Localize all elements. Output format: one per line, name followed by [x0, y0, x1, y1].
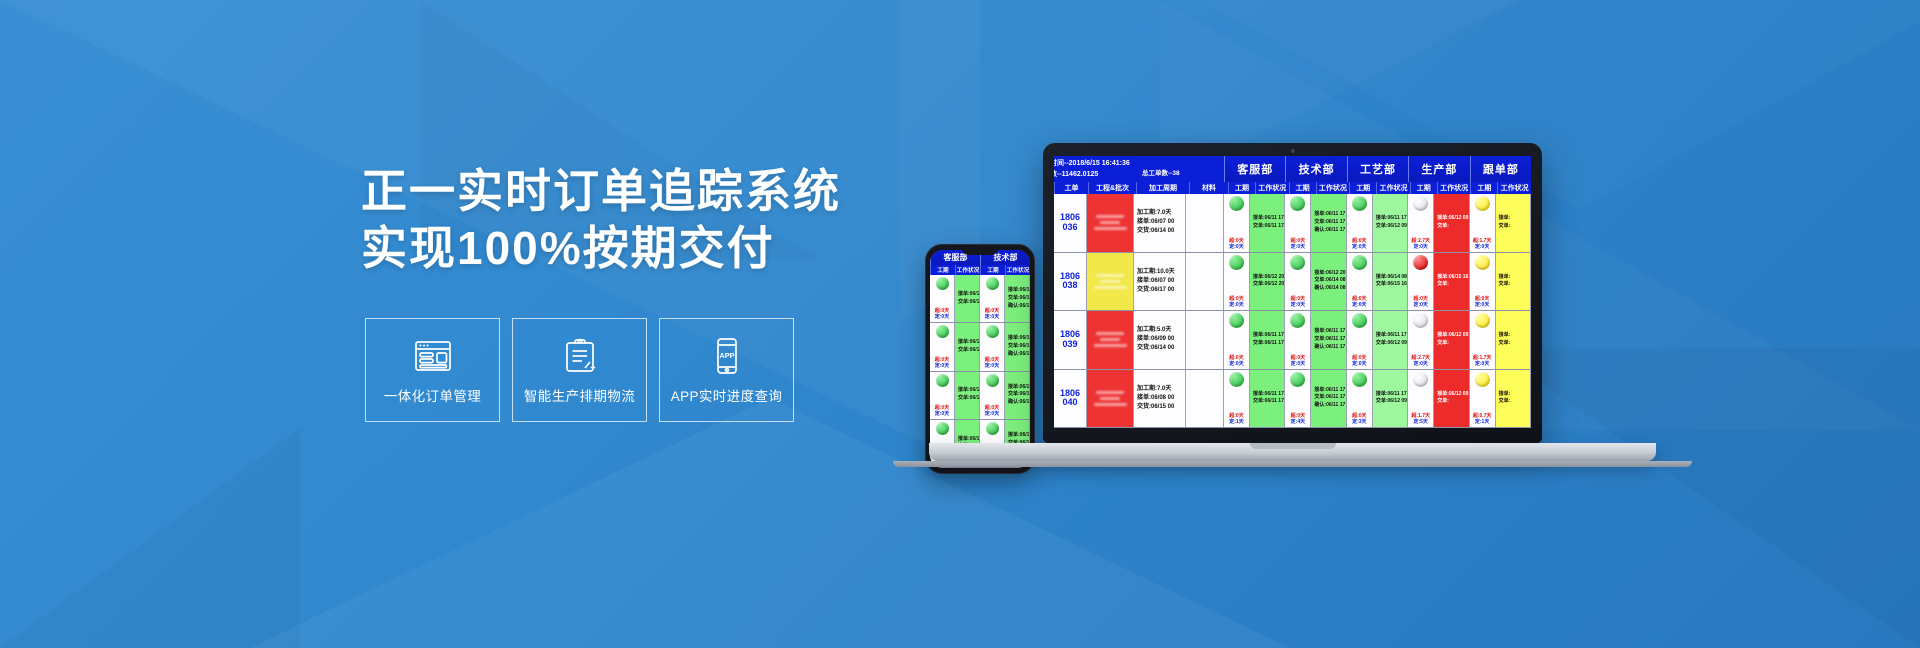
- redacted-text: [1096, 332, 1124, 335]
- status-line: 确认:06/11 17: [1314, 344, 1345, 352]
- feature-card-app-progress-query[interactable]: APP APP实时进度查询: [659, 318, 794, 422]
- col-status-tech: 工作状况: [1316, 182, 1350, 194]
- overdue-tag: 超:0天: [934, 406, 950, 411]
- fixed-tag: 定:0天: [934, 412, 950, 417]
- status-indicator-g: [1290, 255, 1305, 270]
- status-line: 交单:: [1437, 398, 1468, 406]
- status-indicator-w: [1413, 196, 1428, 211]
- fixed-tag: 定:0天: [984, 412, 1000, 417]
- redacted-text: [1100, 221, 1120, 224]
- fixed-tag: 定:0天: [984, 364, 1000, 369]
- status-line: 接单:06/11 17: [1376, 332, 1407, 340]
- status-line: 交单:06/11 17: [1314, 219, 1345, 227]
- cell-material: [1186, 311, 1224, 369]
- redacted-text: [1100, 397, 1120, 400]
- status-line: 接单:06/11 17: [1376, 215, 1407, 223]
- laptop-mockup: 时间--2018/6/15 16:41:36 数--11462.0125 总工单…: [1043, 143, 1542, 443]
- status-line: 交单:06/11 17: [1253, 340, 1284, 348]
- fixed-tag: 定:1天: [1474, 420, 1490, 425]
- status-indicator-y: [1475, 196, 1490, 211]
- phone-cell-work-status: 接单:06/11 17交单:06/11 17: [955, 372, 980, 419]
- status-line: 交单:06/12 09: [1376, 223, 1407, 231]
- feature-label: 智能生产排期物流: [524, 385, 635, 405]
- status-line: 接单:06/12 09: [1437, 332, 1468, 340]
- status-line: 交单:06/11 17: [1008, 295, 1029, 303]
- duration-tags: 超:1.7天定:0天: [1470, 356, 1495, 367]
- headline-line-1: 正一实时订单追踪系统: [361, 165, 841, 217]
- cell-duration: 超:2.7天定:0天: [1408, 311, 1434, 369]
- cell-work-status: 接单:06/12 20交单:06/12 20: [1250, 253, 1285, 311]
- duration-tags: 超:0天定:0天: [1224, 297, 1249, 308]
- cell-work-status: 接单:06/12 09交单:: [1434, 370, 1469, 428]
- redacted-text: [1094, 227, 1127, 230]
- feature-card-order-management[interactable]: 一体化订单管理: [365, 318, 500, 422]
- fixed-tag: 定:0天: [1474, 303, 1490, 308]
- svg-text:APP: APP: [719, 351, 734, 360]
- cell-work-order: 1806036: [1054, 194, 1087, 252]
- overdue-tag: 超:1.7天: [1472, 356, 1493, 361]
- cell-duration: 超:1.7天定:0天: [1470, 194, 1496, 252]
- duration-tags: 超:0天定:0天: [1470, 297, 1495, 308]
- cell-duration: 超:0天定:0天: [1347, 194, 1373, 252]
- phone-mockup: 客服部 技术部 工期 工作状况 工期 工作状况 超:0天定:0天接单:06/11…: [925, 244, 1035, 474]
- fixed-tag: 定:0天: [934, 364, 950, 369]
- cycle-line: 加工期:5.0天: [1137, 326, 1185, 335]
- fixed-tag: 定:0天: [1351, 245, 1367, 250]
- status-line: 接单:06/11 17: [1314, 211, 1345, 219]
- cycle-line: 接单:06/07 00: [1137, 277, 1185, 286]
- cell-work-status: 接单:06/11 17交单:06/11 17确认:06/11 17: [1311, 311, 1346, 369]
- col-status-cs: 工作状况: [1255, 182, 1289, 194]
- fixed-tag: 定:1天: [1228, 420, 1244, 425]
- status-indicator-g: [1352, 196, 1367, 211]
- cycle-line: 交货:06/14 00: [1137, 227, 1185, 236]
- dept-header-customer-service: 客服部: [1224, 156, 1285, 182]
- status-line: 接单:06/12 09: [1437, 215, 1468, 223]
- col-status-flw: 工作状况: [1497, 182, 1531, 194]
- status-line: 接单:06/11 17: [1008, 287, 1029, 295]
- background-facet: [0, 428, 300, 648]
- cell-duration: 超:2.7天定:0天: [1408, 194, 1434, 252]
- status-line: 交单:06/12 09: [1376, 340, 1407, 348]
- fixed-tag: 定:4天: [1290, 420, 1306, 425]
- cell-work-order: 1806038: [1054, 253, 1087, 311]
- status-line: 接单:06/11 17: [1314, 328, 1345, 336]
- cycle-line: 交货:06/15 00: [1137, 403, 1185, 412]
- status-line: 接单:06/11 17: [1253, 215, 1284, 223]
- clipboard-icon: [558, 336, 602, 376]
- status-indicator-g: [1229, 196, 1244, 211]
- dashboard-meta: 时间--2018/6/15 16:41:36 数--11462.0125 总工单…: [1054, 156, 1224, 182]
- status-line: 交单:06/12 20: [1253, 281, 1284, 289]
- cell-work-status: 接单:06/11 17交单:06/12 09: [1373, 194, 1408, 252]
- duration-tags: 超:0天定:3天: [1347, 414, 1372, 425]
- status-indicator-g: [986, 277, 999, 290]
- overdue-tag: 超:0天: [1228, 239, 1244, 244]
- table-row[interactable]: 1806040加工期:7.0天接单:06/08 00交货:06/15 00超:0…: [1054, 370, 1531, 429]
- status-indicator-w: [1413, 372, 1428, 387]
- feature-list: 一体化订单管理 智能生产排期物流: [365, 318, 794, 422]
- cell-duration: 超:0天定:0天: [1470, 253, 1496, 311]
- col-duration-tech: 工期: [1289, 182, 1316, 194]
- duration-tags: 超:0天定:0天: [1347, 297, 1372, 308]
- laptop-lid: 时间--2018/6/15 16:41:36 数--11462.0125 总工单…: [1043, 143, 1542, 443]
- cell-process-cycle: 加工期:10.0天接单:06/07 00交货:06/17 00: [1134, 253, 1186, 311]
- cell-material: [1186, 253, 1224, 311]
- feature-card-production-scheduling[interactable]: 智能生产排期物流: [512, 318, 647, 422]
- cell-project-batch: [1087, 253, 1134, 311]
- redacted-text: [1096, 391, 1124, 394]
- fixed-tag: 定:0天: [934, 315, 950, 320]
- dept-header-order-follow: 跟单部: [1470, 156, 1531, 182]
- cell-work-status: 接单:交单:: [1496, 311, 1531, 369]
- work-order-suffix: 036: [1062, 223, 1077, 233]
- cell-work-status: 接单:06/11 17交单:06/12 09: [1373, 370, 1408, 428]
- fixed-tag: 定:0天: [1351, 362, 1367, 367]
- cell-duration: 超:0天定:0天: [1224, 194, 1250, 252]
- col-duration-prod: 工期: [1410, 182, 1437, 194]
- fixed-tag: 定:5天: [1412, 420, 1428, 425]
- cell-duration: 超:0天定:0天: [1347, 311, 1373, 369]
- meta-total-orders: 总工单数--38: [1142, 167, 1180, 177]
- hero-copy: 正一实时订单追踪系统 实现100%按期交付: [361, 163, 881, 277]
- fixed-tag: 定:0天: [1290, 362, 1306, 367]
- fixed-tag: 定:0天: [1228, 245, 1244, 250]
- status-indicator-g: [936, 325, 949, 338]
- overdue-tag: 超:0天: [1351, 356, 1367, 361]
- status-line: 交单:06/11 17: [1253, 398, 1284, 406]
- status-line: 交单:06/14 08: [1314, 277, 1345, 285]
- status-indicator-g: [936, 422, 949, 435]
- status-line: 接单:06/11 17: [1008, 432, 1029, 440]
- meta-number: 数--11462.0125: [1054, 169, 1224, 179]
- phone-cell-duration: 超:0天定:0天: [980, 323, 1005, 370]
- status-indicator-w: [1413, 313, 1428, 328]
- duration-tags: 超:0.7天定:1天: [1470, 414, 1495, 425]
- cell-work-status: 接单:交单:: [1496, 370, 1531, 428]
- phone-cell-duration: 超:0天定:0天: [930, 275, 955, 322]
- phone-notch: [962, 247, 998, 255]
- duration-tags: 超:2.7天定:0天: [1408, 356, 1433, 367]
- col-work-order: 工单: [1054, 182, 1088, 194]
- col-material: 材料: [1189, 182, 1228, 194]
- meta-time: 时间--2018/6/15 16:41:36: [1054, 158, 1224, 168]
- table-row[interactable]: 1806038加工期:10.0天接单:06/07 00交货:06/17 00超:…: [1054, 253, 1531, 312]
- fixed-tag: 定:0天: [1412, 362, 1428, 367]
- cell-work-status: 接单:06/12 09交单:: [1434, 311, 1469, 369]
- phone-cell-work-status: 接单:06/12 20交单:06/14 08确认:06/14 08: [1005, 323, 1030, 370]
- status-line: 交单:06/15 16: [1376, 281, 1407, 289]
- background-facet: [1490, 348, 1920, 648]
- cell-duration: 超:0天定:0天: [1347, 253, 1373, 311]
- cell-duration: 超:0天定:0天: [1285, 194, 1311, 252]
- status-line: 确认:06/11 17: [1314, 402, 1345, 410]
- cell-duration: 超:0天定:0天: [1408, 253, 1434, 311]
- phone-col-status: 工作状况: [955, 265, 980, 275]
- status-line: 接单:06/11 17: [958, 387, 979, 395]
- status-line: 交单:06/11 17: [1314, 336, 1345, 344]
- phone-cell-work-status: 接单:06/11 17交单:06/11 17确认:06/11 17: [1005, 372, 1030, 419]
- duration-tags: 超:0天定:0天: [1347, 356, 1372, 367]
- col-duration-proc: 工期: [1349, 182, 1376, 194]
- status-indicator-g: [1352, 313, 1367, 328]
- status-line: 交单:: [1437, 281, 1468, 289]
- cell-material: [1186, 370, 1224, 428]
- dept-header-technical: 技术部: [1285, 156, 1346, 182]
- col-status-proc: 工作状况: [1376, 182, 1410, 194]
- dept-header-process: 工艺部: [1347, 156, 1408, 182]
- fixed-tag: 定:0天: [1474, 245, 1490, 250]
- cycle-line: 加工期:10.0天: [1137, 268, 1185, 277]
- redacted-text: [1096, 274, 1124, 277]
- status-indicator-y: [1475, 313, 1490, 328]
- cycle-line: 加工期:7.0天: [1137, 385, 1185, 394]
- headline-line-2: 实现100%按期交付: [361, 220, 881, 277]
- status-line: 交单:06/11 17: [1008, 391, 1029, 399]
- laptop-screen[interactable]: 时间--2018/6/15 16:41:36 数--11462.0125 总工单…: [1054, 156, 1531, 428]
- status-line: 接单:: [1499, 215, 1530, 223]
- cell-work-status: 接单:06/15 16交单:: [1434, 253, 1469, 311]
- cell-process-cycle: 加工期:5.0天接单:06/09 00交货:06/14 00: [1134, 311, 1186, 369]
- duration-tags: 超:0天定:0天: [1285, 239, 1310, 250]
- duration-tags: 超:0天定:0天: [1224, 239, 1249, 250]
- cell-work-status: 接单:06/11 17交单:06/11 17: [1250, 370, 1285, 428]
- overdue-tag: 超:0天: [934, 358, 950, 363]
- cycle-line: 交货:06/17 00: [1137, 286, 1185, 295]
- laptop-foot: [893, 461, 1692, 467]
- cell-duration: 超:0.7天定:1天: [1470, 370, 1496, 428]
- phone-cell-duration: 超:0天定:0天: [980, 275, 1005, 322]
- dashboard-icon: [411, 336, 455, 376]
- status-indicator-g: [1352, 255, 1367, 270]
- cell-work-status: 接单:06/12 20交单:06/14 08确认:06/14 08: [1311, 253, 1346, 311]
- redacted-text: [1100, 338, 1120, 341]
- col-duration-cs: 工期: [1228, 182, 1255, 194]
- status-indicator-g: [986, 374, 999, 387]
- fixed-tag: 定:0天: [1474, 362, 1490, 367]
- cell-work-status: 接单:06/11 17交单:06/11 17: [1250, 311, 1285, 369]
- status-indicator-g: [1229, 372, 1244, 387]
- cell-duration: 超:0天定:0天: [1285, 311, 1311, 369]
- cell-work-status: 接单:06/14 08交单:06/15 16: [1373, 253, 1408, 311]
- status-line: 交单:06/12 09: [1376, 398, 1407, 406]
- status-line: 交单:06/11 17: [958, 395, 979, 403]
- status-line: 交单:: [1499, 281, 1530, 289]
- status-line: 交单:06/11 17: [1314, 394, 1345, 402]
- phone-table-row[interactable]: 超:0天定:0天接单:06/12 20交单:06/12 20超:0天定:0天接单…: [930, 323, 1030, 371]
- status-line: 确认:06/14 08: [1314, 285, 1345, 293]
- status-line: 接单:06/11 17: [958, 291, 979, 299]
- phone-screen[interactable]: 客服部 技术部 工期 工作状况 工期 工作状况 超:0天定:0天接单:06/11…: [930, 250, 1030, 468]
- status-line: 交单:: [1499, 398, 1530, 406]
- work-order-suffix: 038: [1062, 281, 1077, 291]
- status-line: 接单:06/12 20: [1008, 335, 1029, 343]
- table-row[interactable]: 1806036加工期:7.0天接单:06/07 00交货:06/14 00超:0…: [1054, 194, 1531, 253]
- page-title: 正一实时订单追踪系统 实现100%按期交付: [361, 163, 881, 277]
- status-indicator-y: [1475, 255, 1490, 270]
- fixed-tag: 定:0天: [984, 315, 1000, 320]
- duration-tags: 超:0天定:0天: [1285, 297, 1310, 308]
- status-line: 接单:06/12 20: [958, 339, 979, 347]
- status-line: 确认:06/11 17: [1008, 399, 1029, 407]
- status-line: 交单:: [1437, 340, 1468, 348]
- phone-table-row[interactable]: 超:0天定:0天接单:06/11 17交单:06/11 17超:0天定:0天接单…: [930, 275, 1030, 323]
- phone-column-header: 工期 工作状况 工期 工作状况: [930, 265, 1030, 275]
- redacted-text: [1094, 344, 1127, 347]
- cycle-line: 加工期:7.0天: [1137, 209, 1185, 218]
- status-indicator-g: [1229, 313, 1244, 328]
- phone-cell-duration: 超:0天定:0天: [930, 372, 955, 419]
- status-line: 确认:06/14 08: [1008, 351, 1029, 359]
- duration-tags: 超:0天定:0天: [980, 406, 1004, 417]
- cell-work-order: 1806039: [1054, 311, 1087, 369]
- duration-tags: 超:0天定:4天: [1285, 414, 1310, 425]
- duration-tags: 超:0天定:0天: [930, 358, 954, 369]
- dashboard-header: 时间--2018/6/15 16:41:36 数--11462.0125 总工单…: [1054, 156, 1531, 182]
- status-indicator-g: [1290, 196, 1305, 211]
- col-project-batch: 工程&批次: [1088, 182, 1136, 194]
- duration-tags: 超:1.7天定:5天: [1408, 414, 1433, 425]
- status-line: 交单:06/12 20: [958, 347, 979, 355]
- mobile-app-icon: APP: [705, 336, 749, 376]
- status-line: 交单:06/11 17: [958, 299, 979, 307]
- status-indicator-g: [986, 422, 999, 435]
- overdue-tag: 超:0天: [1290, 239, 1306, 244]
- cell-work-status: 接单:06/11 17交单:06/11 17: [1250, 194, 1285, 252]
- cell-duration: 超:1.7天定:5天: [1408, 370, 1434, 428]
- duration-tags: 超:1.7天定:0天: [1470, 239, 1495, 250]
- overdue-tag: 超:0天: [1290, 356, 1306, 361]
- cell-duration: 超:0天定:1天: [1224, 370, 1250, 428]
- phone-table-row[interactable]: 超:0天定:0天接单:06/11 17交单:06/11 17超:0天定:0天接单…: [930, 372, 1030, 420]
- status-indicator-r: [1413, 255, 1428, 270]
- cell-work-status: 接单:06/12 09交单:: [1434, 194, 1469, 252]
- cycle-line: 交货:06/14 00: [1137, 344, 1185, 353]
- overdue-tag: 超:0天: [984, 358, 1000, 363]
- overdue-tag: 超:0天: [984, 406, 1000, 411]
- phone-row-list: 超:0天定:0天接单:06/11 17交单:06/11 17超:0天定:0天接单…: [930, 275, 1030, 468]
- duration-tags: 超:2.7天定:0天: [1408, 239, 1433, 250]
- duration-tags: 超:0天定:0天: [1347, 239, 1372, 250]
- cell-work-status: 接单:06/11 17交单:06/11 17确认:06/11 17: [1311, 194, 1346, 252]
- cycle-line: 接单:06/07 00: [1137, 218, 1185, 227]
- laptop-base: [929, 443, 1656, 461]
- cell-work-order: 1806040: [1054, 370, 1087, 428]
- phone-cell-work-status: 接单:06/11 17交单:06/11 17: [955, 275, 980, 322]
- duration-tags: 超:0天定:0天: [980, 309, 1004, 320]
- order-row-list: 1806036加工期:7.0天接单:06/07 00交货:06/14 00超:0…: [1054, 194, 1531, 428]
- overdue-tag: 超:2.7天: [1410, 356, 1431, 361]
- webcam-icon: [1291, 149, 1295, 153]
- table-row[interactable]: 1806039加工期:5.0天接单:06/09 00交货:06/14 00超:0…: [1054, 311, 1531, 370]
- redacted-text: [1094, 403, 1127, 406]
- duration-tags: 超:0天定:0天: [980, 358, 1004, 369]
- duration-tags: 超:0天定:0天: [1285, 356, 1310, 367]
- overdue-tag: 超:0天: [1228, 356, 1244, 361]
- status-line: 接单:: [1499, 332, 1530, 340]
- cell-project-batch: [1087, 311, 1134, 369]
- status-indicator-g: [1229, 255, 1244, 270]
- work-order-suffix: 040: [1062, 398, 1077, 408]
- fixed-tag: 定:0天: [1351, 303, 1367, 308]
- fixed-tag: 定:0天: [1412, 245, 1428, 250]
- status-indicator-g: [1290, 313, 1305, 328]
- col-process-cycle: 加工周期: [1136, 182, 1189, 194]
- duration-tags: 超:0天定:0天: [930, 406, 954, 417]
- status-line: 确认:06/11 17: [1314, 227, 1345, 235]
- phone-col-duration: 工期: [980, 265, 1005, 275]
- redacted-text: [1100, 280, 1120, 283]
- cycle-line: 接单:06/08 00: [1137, 394, 1185, 403]
- fixed-tag: 定:3天: [1351, 420, 1367, 425]
- cell-duration: 超:0天定:0天: [1224, 253, 1250, 311]
- status-line: 交单:: [1437, 223, 1468, 231]
- overdue-tag: 超:2.7天: [1410, 239, 1431, 244]
- cell-material: [1186, 194, 1224, 252]
- cycle-line: 接单:06/09 00: [1137, 335, 1185, 344]
- status-line: 接单:06/11 17: [1253, 332, 1284, 340]
- feature-label: 一体化订单管理: [384, 385, 481, 405]
- column-header-row: 工单 工程&批次 加工周期 材料 工期 工作状况 工期 工作状况 工期 工作状况…: [1054, 182, 1531, 194]
- redacted-text: [1094, 286, 1127, 289]
- duration-tags: 超:0天定:1天: [1224, 414, 1249, 425]
- feature-label: APP实时进度查询: [671, 385, 783, 405]
- status-indicator-y: [1475, 372, 1490, 387]
- cell-duration: 超:0天定:4天: [1285, 370, 1311, 428]
- status-indicator-g: [936, 374, 949, 387]
- overdue-tag: 超:0天: [1351, 239, 1367, 244]
- cell-duration: 超:0天定:3天: [1347, 370, 1373, 428]
- status-indicator-g: [936, 277, 949, 290]
- overdue-tag: 超:1.7天: [1472, 239, 1493, 244]
- order-tracking-dashboard: 时间--2018/6/15 16:41:36 数--11462.0125 总工单…: [1054, 156, 1531, 428]
- fixed-tag: 定:0天: [1228, 362, 1244, 367]
- status-line: 交单:06/11 17: [1253, 223, 1284, 231]
- status-line: 交单:06/14 08: [1008, 343, 1029, 351]
- status-line: 确认:06/11 17: [1008, 303, 1029, 311]
- status-indicator-g: [1352, 372, 1367, 387]
- fixed-tag: 定:0天: [1228, 303, 1244, 308]
- cell-work-status: 接单:06/11 17交单:06/11 17确认:06/11 17: [1311, 370, 1346, 428]
- phone-cell-work-status: 接单:06/11 17交单:06/11 17确认:06/11 17: [1005, 275, 1030, 322]
- cell-work-status: 接单:交单:: [1496, 253, 1531, 311]
- phone-cell-duration: 超:0天定:0天: [980, 372, 1005, 419]
- status-indicator-g: [986, 325, 999, 338]
- status-line: 交单:: [1499, 223, 1530, 231]
- phone-col-status: 工作状况: [1005, 265, 1030, 275]
- status-indicator-g: [1290, 372, 1305, 387]
- work-order-suffix: 039: [1062, 340, 1077, 350]
- cell-project-batch: [1087, 194, 1134, 252]
- status-line: 交单:: [1499, 340, 1530, 348]
- fixed-tag: 定:0天: [1412, 303, 1428, 308]
- duration-tags: 超:0天定:0天: [930, 309, 954, 320]
- phone-cell-duration: 超:0天定:0天: [930, 323, 955, 370]
- cell-work-status: 接单:交单:: [1496, 194, 1531, 252]
- cell-process-cycle: 加工期:7.0天接单:06/08 00交货:06/15 00: [1134, 370, 1186, 428]
- cell-process-cycle: 加工期:7.0天接单:06/07 00交货:06/14 00: [1134, 194, 1186, 252]
- phone-col-duration: 工期: [930, 265, 955, 275]
- duration-tags: 超:0天定:0天: [1408, 297, 1433, 308]
- cell-duration: 超:0天定:0天: [1224, 311, 1250, 369]
- cell-duration: 超:1.7天定:0天: [1470, 311, 1496, 369]
- phone-cell-work-status: 接单:06/12 20交单:06/12 20: [955, 323, 980, 370]
- fixed-tag: 定:0天: [1290, 303, 1306, 308]
- col-status-prod: 工作状况: [1437, 182, 1471, 194]
- fixed-tag: 定:0天: [1290, 245, 1306, 250]
- col-duration-flw: 工期: [1470, 182, 1497, 194]
- dept-header-production: 生产部: [1408, 156, 1469, 182]
